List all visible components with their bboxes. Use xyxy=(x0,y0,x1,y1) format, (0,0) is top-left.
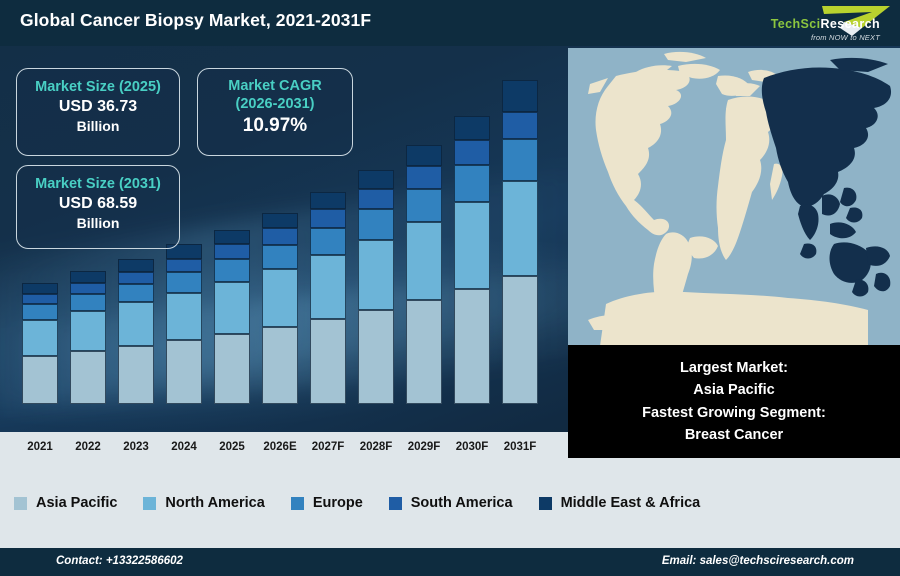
bar-segment-north-america xyxy=(358,240,394,310)
legend-swatch-icon xyxy=(143,497,156,510)
bar-2027F xyxy=(310,192,346,404)
bar-segment-asia-pacific xyxy=(502,276,538,404)
legend-item-north-america[interactable]: North America xyxy=(143,495,264,511)
bar-segment-europe xyxy=(118,284,154,302)
legend-swatch-icon xyxy=(14,497,27,510)
page-title: Global Cancer Biopsy Market, 2021-2031F xyxy=(20,10,371,31)
x-axis-label-2027F: 2027F xyxy=(302,441,354,453)
x-axis-label-2028F: 2028F xyxy=(350,441,402,453)
bar-segment-middle-east-africa xyxy=(262,213,298,229)
bar-segment-middle-east-africa xyxy=(70,271,106,283)
bar-2021 xyxy=(22,283,58,404)
bar-2022 xyxy=(70,271,106,404)
bar-2030F xyxy=(454,116,490,404)
card-2031-heading: Market Size (2031) xyxy=(17,176,179,194)
bar-segment-middle-east-africa xyxy=(118,259,154,272)
legend-item-middle-east-africa[interactable]: Middle East & Africa xyxy=(539,495,701,511)
largest-market-value: Asia Pacific xyxy=(693,379,774,401)
world-map-icon xyxy=(568,48,900,348)
bar-segment-asia-pacific xyxy=(70,351,106,404)
bar-segment-south-america xyxy=(70,283,106,294)
bar-segment-europe xyxy=(358,209,394,239)
legend-label: Asia Pacific xyxy=(36,495,117,511)
x-axis-label-2021: 2021 xyxy=(14,441,66,453)
bar-segment-south-america xyxy=(214,244,250,259)
bar-segment-middle-east-africa xyxy=(502,80,538,112)
bar-segment-asia-pacific xyxy=(358,310,394,404)
x-axis-label-2031F: 2031F xyxy=(494,441,546,453)
infographic-page: Global Cancer Biopsy Market, 2021-2031F … xyxy=(0,0,900,576)
bar-segment-north-america xyxy=(262,269,298,327)
bar-segment-asia-pacific xyxy=(310,319,346,404)
bar-2031F xyxy=(502,80,538,404)
bar-segment-north-america xyxy=(118,302,154,345)
bar-segment-north-america xyxy=(454,202,490,288)
bar-segment-middle-east-africa xyxy=(310,192,346,209)
card-cagr-period: (2026-2031) xyxy=(198,96,352,114)
fastest-segment-value: Breast Cancer xyxy=(685,424,783,446)
card-market-size-2025: Market Size (2025) USD 36.73 Billion xyxy=(16,68,180,156)
x-axis-labels: 202120222023202420252026E2027F2028F2029F… xyxy=(0,432,568,458)
bar-2023 xyxy=(118,259,154,404)
bar-2024 xyxy=(166,244,202,404)
bar-segment-middle-east-africa xyxy=(214,230,250,244)
legend-label: South America xyxy=(411,495,513,511)
bar-segment-europe xyxy=(262,245,298,270)
bar-segment-north-america xyxy=(214,282,250,334)
chart-legend: Asia PacificNorth AmericaEuropeSouth Ame… xyxy=(0,458,900,548)
largest-market-label: Largest Market: xyxy=(680,357,788,379)
legend-swatch-icon xyxy=(389,497,402,510)
x-axis-label-2029F: 2029F xyxy=(398,441,450,453)
card-2025-unit: Billion xyxy=(17,117,179,135)
techsci-logo: TechSciResearch from NOW to NEXT xyxy=(712,2,892,44)
card-market-cagr: Market CAGR (2026-2031) 10.97% xyxy=(197,68,353,156)
bar-segment-europe xyxy=(166,272,202,292)
bar-2026E xyxy=(262,213,298,404)
bar-segment-south-america xyxy=(262,228,298,245)
fastest-segment-label: Fastest Growing Segment: xyxy=(642,402,826,424)
bar-segment-north-america xyxy=(22,320,58,356)
card-2031-unit: Billion xyxy=(17,214,179,232)
bar-segment-south-america xyxy=(118,272,154,284)
x-axis-label-2024: 2024 xyxy=(158,441,210,453)
x-axis-label-2026E: 2026E xyxy=(254,441,306,453)
logo-tagline: from NOW to NEXT xyxy=(771,34,880,42)
bar-2029F xyxy=(406,145,442,404)
x-axis-label-2025: 2025 xyxy=(206,441,258,453)
x-axis: 202120222023202420252026E2027F2028F2029F… xyxy=(0,404,568,458)
bar-segment-middle-east-africa xyxy=(22,283,58,294)
bar-segment-south-america xyxy=(406,166,442,189)
bar-segment-middle-east-africa xyxy=(406,145,442,166)
legend-item-south-america[interactable]: South America xyxy=(389,495,513,511)
world-map xyxy=(568,48,900,348)
card-2025-heading: Market Size (2025) xyxy=(17,79,179,97)
x-axis-label-2023: 2023 xyxy=(110,441,162,453)
bar-segment-asia-pacific xyxy=(406,300,442,404)
card-2025-value: USD 36.73 xyxy=(17,97,179,118)
card-market-size-2031: Market Size (2031) USD 68.59 Billion xyxy=(16,165,180,249)
bar-segment-asia-pacific xyxy=(22,356,58,404)
bar-segment-asia-pacific xyxy=(262,327,298,404)
card-cagr-heading: Market CAGR xyxy=(198,78,352,96)
bar-segment-europe xyxy=(70,294,106,311)
legend-label: North America xyxy=(165,495,264,511)
x-axis-label-2030F: 2030F xyxy=(446,441,498,453)
key-facts-box: Largest Market: Asia Pacific Fastest Gro… xyxy=(568,345,900,458)
logo-brand-research: Research xyxy=(821,17,881,31)
footer-email: Email: sales@techsciresearch.com xyxy=(662,555,854,567)
bar-segment-asia-pacific xyxy=(166,340,202,404)
legend-label: Middle East & Africa xyxy=(561,495,701,511)
footer-bar: Contact: +13322586602 Email: sales@techs… xyxy=(0,548,900,576)
bar-segment-south-america xyxy=(166,259,202,273)
footer-contact: Contact: +13322586602 xyxy=(56,555,183,567)
legend-swatch-icon xyxy=(291,497,304,510)
bar-segment-north-america xyxy=(310,255,346,319)
bar-segment-europe xyxy=(22,304,58,320)
bar-segment-europe xyxy=(310,228,346,255)
bar-segment-asia-pacific xyxy=(118,346,154,404)
bar-segment-europe xyxy=(214,259,250,281)
bar-segment-asia-pacific xyxy=(454,289,490,404)
bar-segment-north-america xyxy=(166,293,202,341)
bar-segment-europe xyxy=(454,165,490,202)
bar-segment-europe xyxy=(502,139,538,180)
bar-segment-asia-pacific xyxy=(214,334,250,404)
bar-segment-middle-east-africa xyxy=(358,170,394,189)
bar-2028F xyxy=(358,170,394,404)
bar-segment-north-america xyxy=(502,181,538,277)
legend-item-europe[interactable]: Europe xyxy=(291,495,363,511)
bar-segment-south-america xyxy=(358,189,394,209)
logo-brand-tech: TechSci xyxy=(771,17,821,31)
bar-segment-south-america xyxy=(310,209,346,227)
bar-segment-north-america xyxy=(406,222,442,300)
card-2031-value: USD 68.59 xyxy=(17,194,179,215)
legend-label: Europe xyxy=(313,495,363,511)
bar-2025 xyxy=(214,230,250,404)
bar-segment-middle-east-africa xyxy=(454,116,490,140)
bar-segment-south-america xyxy=(22,294,58,304)
bar-segment-europe xyxy=(406,189,442,223)
legend-swatch-icon xyxy=(539,497,552,510)
card-cagr-value: 10.97% xyxy=(198,113,352,139)
header-bar: Global Cancer Biopsy Market, 2021-2031F … xyxy=(0,0,900,46)
bar-segment-north-america xyxy=(70,311,106,351)
bar-segment-south-america xyxy=(502,112,538,140)
bar-segment-south-america xyxy=(454,140,490,165)
legend-item-asia-pacific[interactable]: Asia Pacific xyxy=(14,495,117,511)
x-axis-label-2022: 2022 xyxy=(62,441,114,453)
